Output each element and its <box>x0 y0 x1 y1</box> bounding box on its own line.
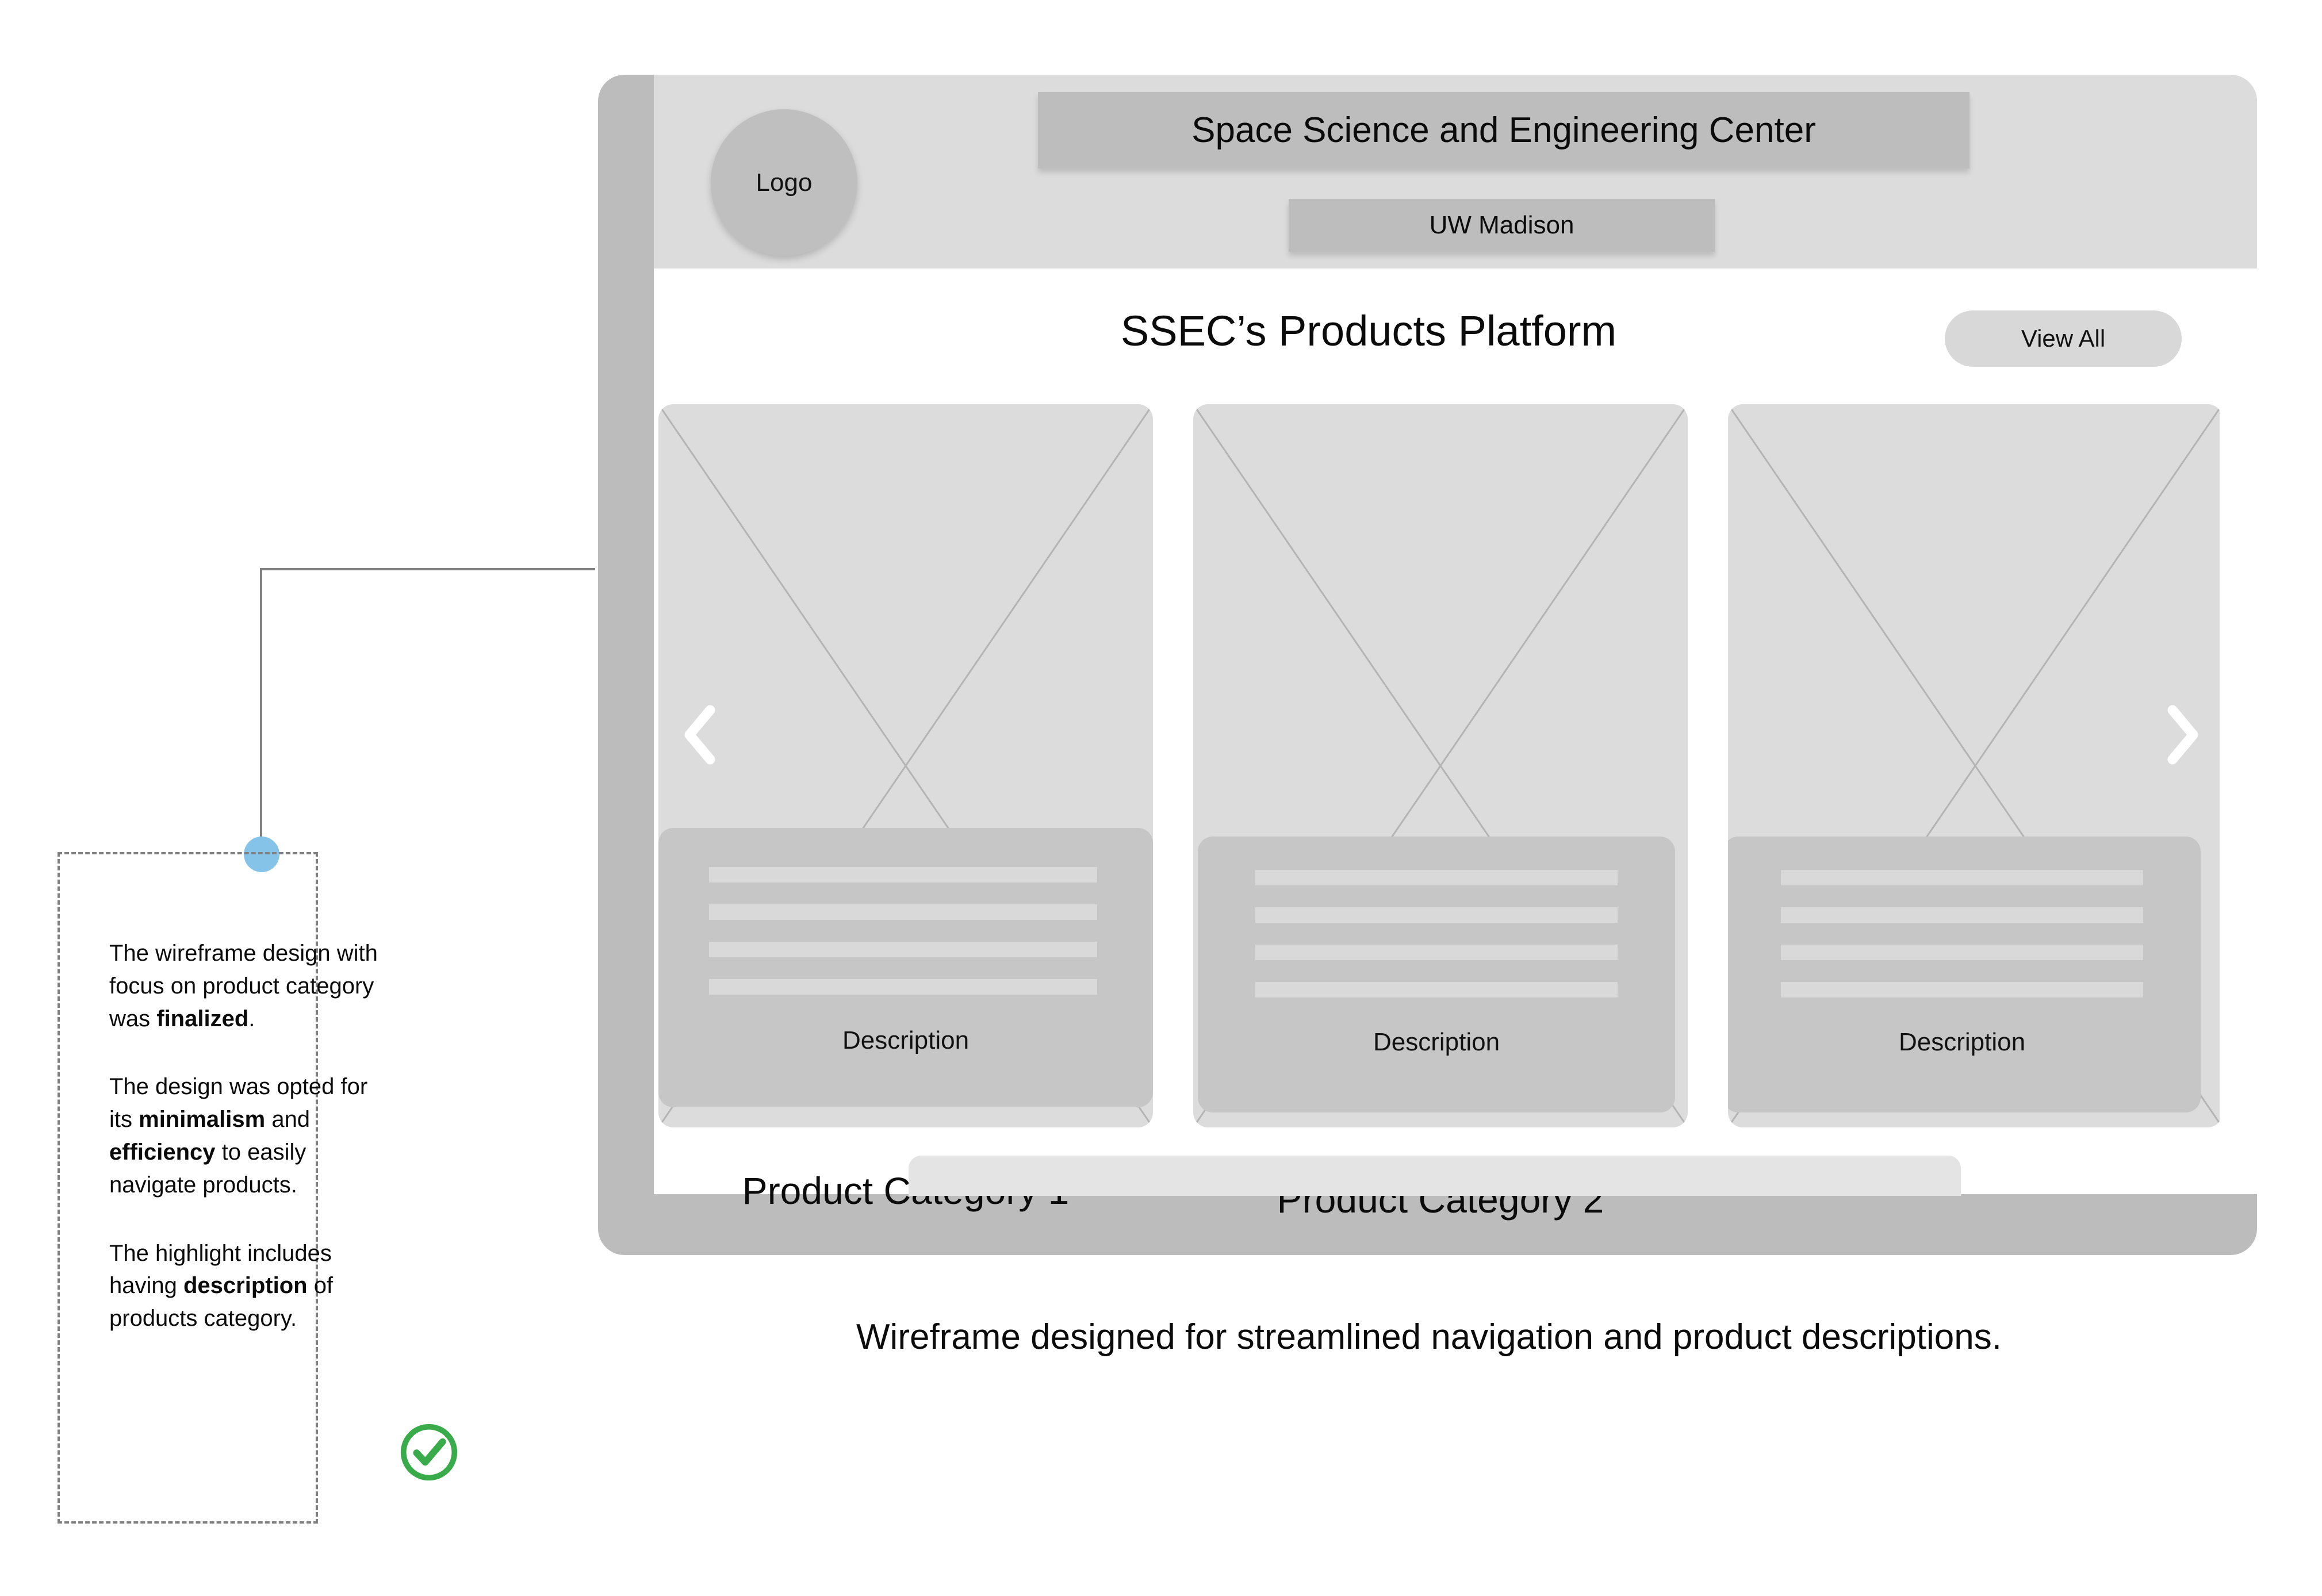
skeleton-line <box>1255 945 1618 960</box>
annotation-text: The wireframe design with focus on produ… <box>109 937 391 1371</box>
skeleton-line <box>1781 982 2143 997</box>
annotation-paragraph: The design was opted for its minimalism … <box>109 1071 391 1201</box>
figure-caption: Wireframe designed for streamlined navig… <box>598 1317 2260 1357</box>
skeleton-line <box>1781 907 2143 923</box>
site-title-text: Space Science and Engineering Center <box>1191 110 1816 151</box>
callout-connector-vertical <box>260 568 262 855</box>
description-label: Description <box>658 1026 1153 1055</box>
annotation-paragraph: The wireframe design with focus on produ… <box>109 937 391 1035</box>
product-card-clip: Description Product Category 3 <box>1728 404 2220 1127</box>
product-description-panel: Description <box>658 828 1153 1107</box>
site-subtitle-text: UW Madison <box>1430 211 1574 240</box>
product-card[interactable]: Description Product Category 1 <box>658 404 1153 1127</box>
site-title-bar: Space Science and Engineering Center <box>1038 92 1970 168</box>
skeleton-line <box>1781 870 2143 885</box>
product-card[interactable]: Description Product Category 2 <box>1193 404 1688 1127</box>
skeleton-line <box>709 942 1097 957</box>
annotation-paragraph: The highlight includes having descriptio… <box>109 1237 391 1335</box>
skeleton-line <box>709 904 1097 920</box>
view-all-button[interactable]: View All <box>1945 310 2182 367</box>
chevron-right-icon[interactable] <box>2162 703 2202 766</box>
skeleton-line <box>1255 907 1618 923</box>
skeleton-line <box>1255 870 1618 885</box>
description-label: Description <box>1728 1028 2201 1057</box>
skeleton-line <box>1781 945 2143 960</box>
description-label: Description <box>1198 1028 1675 1057</box>
site-subtitle-bar: UW Madison <box>1289 199 1715 252</box>
site-logo[interactable]: Logo <box>711 109 857 256</box>
page-title: SSEC’s Products Platform <box>822 299 1915 362</box>
chevron-left-icon[interactable] <box>680 703 721 766</box>
skeleton-line <box>709 867 1097 883</box>
site-logo-label: Logo <box>756 168 813 197</box>
product-description-panel: Description <box>1728 837 2201 1112</box>
view-all-label: View All <box>2021 325 2105 352</box>
skeleton-line <box>1255 982 1618 997</box>
bottom-content-placeholder <box>909 1156 1961 1196</box>
skeleton-line <box>709 979 1097 995</box>
callout-connector-horizontal <box>260 568 595 570</box>
product-card[interactable]: Description Product Category 3 <box>1728 404 2220 1127</box>
check-circle-icon <box>398 1421 460 1483</box>
product-description-panel: Description <box>1198 837 1675 1112</box>
